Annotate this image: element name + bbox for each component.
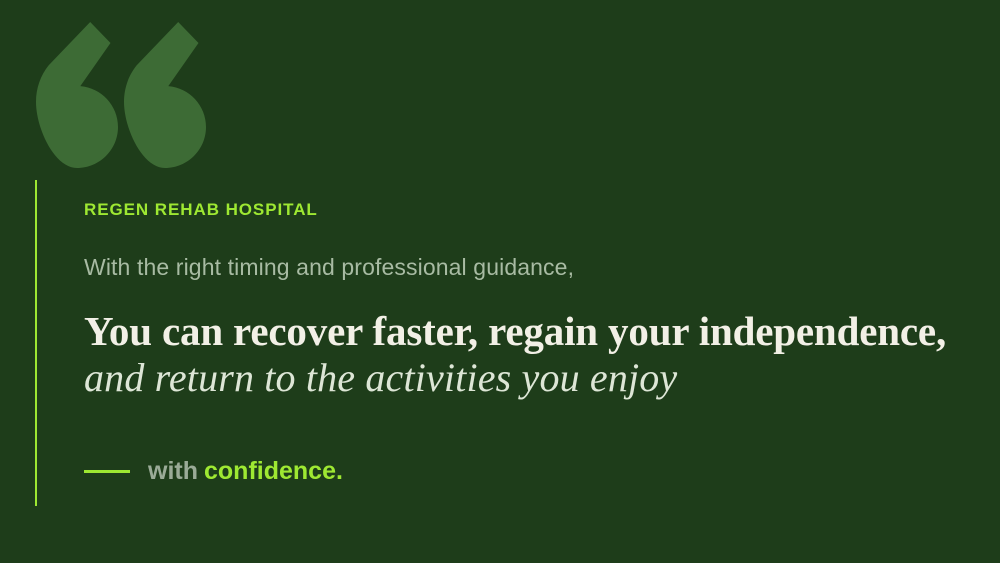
vertical-accent-rule (35, 180, 37, 506)
headline: You can recover faster, regain your inde… (84, 281, 964, 400)
eyebrow-label: REGEN REHAB HOSPITAL (84, 178, 964, 220)
kicker-text: withconfidence. (148, 459, 343, 484)
headline-line-secondary: and return to the activities you enjoy (84, 354, 964, 401)
kicker-dash-icon (84, 470, 130, 473)
kicker-emphasis-word: confidence. (204, 457, 343, 485)
headline-line-primary: You can recover faster, regain your inde… (84, 309, 964, 353)
kicker-lead-word: with (148, 457, 198, 485)
subtitle-text: With the right timing and professional g… (84, 220, 964, 282)
kicker: withconfidence. (84, 401, 964, 484)
quote-content: REGEN REHAB HOSPITAL With the right timi… (84, 178, 964, 484)
quote-slide: REGEN REHAB HOSPITAL With the right timi… (0, 0, 1000, 563)
open-quote-icon (36, 18, 206, 168)
